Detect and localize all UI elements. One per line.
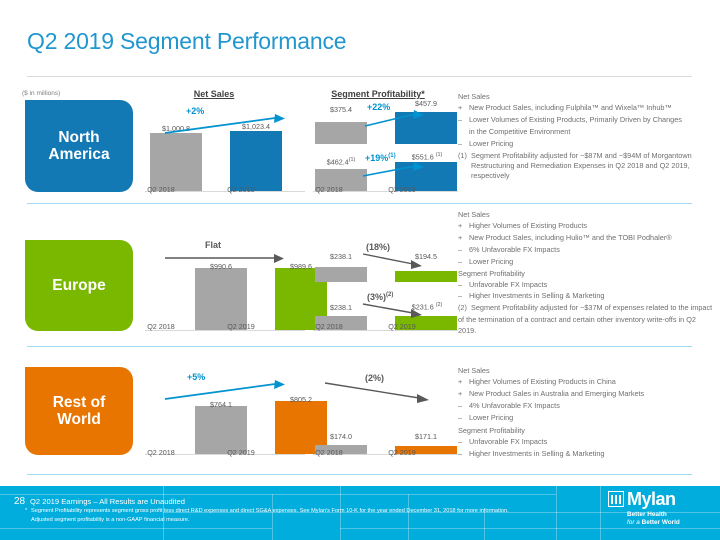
segment-label-line2: America bbox=[48, 146, 109, 163]
bullet-heading: Net Sales bbox=[458, 92, 716, 102]
axis-tick-prior: Q2 2018 bbox=[288, 185, 370, 194]
bullet-item: – Unfavorable FX Impacts bbox=[458, 280, 716, 290]
bar-value-current: $551.6 (1) bbox=[392, 152, 462, 161]
mylan-logo: Mylan Better Health for a Better World bbox=[608, 490, 708, 536]
bullet-marker: + bbox=[458, 377, 469, 387]
axis-tick-prior: Q2 2018 bbox=[120, 185, 202, 194]
bullet-item: – 4% Unfavorable FX Impacts bbox=[458, 401, 716, 411]
axis-tick-current: Q2 2019 bbox=[200, 448, 282, 457]
bullet-item: – Lower Volumes of Existing Products, Pr… bbox=[458, 115, 716, 125]
logo-tagline-line1: Better Health bbox=[627, 511, 708, 519]
segment-label-line2: World bbox=[57, 411, 101, 428]
logo-name: Mylan bbox=[627, 490, 676, 508]
section-divider-2 bbox=[27, 346, 692, 347]
footnote-line-2: Adjusted segment profitability is a non-… bbox=[31, 516, 576, 525]
units-note: ($ in millions) bbox=[22, 90, 60, 97]
chart-na-profitability-1: $375.4 $457.9 +22% bbox=[313, 100, 458, 145]
bullet-marker: + bbox=[458, 103, 469, 113]
bullet-text: Lower Pricing bbox=[469, 413, 716, 423]
bullet-text: Lower Pricing bbox=[469, 257, 716, 267]
axis-tick-current: Q2 2019 bbox=[361, 322, 443, 331]
bullets-north-america: Net Sales + New Product Sales, including… bbox=[458, 92, 716, 183]
bar-value-current: $457.9 bbox=[392, 99, 460, 108]
bar-value-prior: $174.0 bbox=[307, 432, 375, 441]
growth-arrow-icon bbox=[163, 380, 293, 402]
segment-label-line1: North bbox=[58, 129, 99, 146]
bullet-item: – Lower Pricing bbox=[458, 413, 716, 423]
bullet-item: – Unfavorable FX Impacts bbox=[458, 437, 716, 447]
bullet-heading: Net Sales bbox=[458, 366, 716, 376]
bullet-marker: – bbox=[458, 245, 469, 255]
bullet-text: Lower Volumes of Existing Products, Prim… bbox=[469, 115, 716, 125]
footnote-item: (2) Segment Profitability adjusted for ~… bbox=[458, 303, 716, 313]
bullet-text: Lower Pricing bbox=[469, 139, 716, 149]
growth-arrow-icon bbox=[361, 161, 433, 181]
segment-label-line1: Europe bbox=[52, 277, 105, 294]
segment-label-line1: Rest of bbox=[53, 394, 106, 411]
bullet-marker: – bbox=[458, 280, 469, 290]
footnote-marker: (1) bbox=[458, 151, 471, 182]
slide-footnote: * Segment Profitability represents segme… bbox=[31, 507, 576, 524]
axis-tick-prior: Q2 2018 bbox=[120, 448, 202, 457]
bar-prior bbox=[315, 267, 367, 282]
chart-na-net-sales: $1,000.8 $1,023.4 +2% bbox=[145, 100, 305, 192]
chart-eu-net-sales: $990.6 $989.6 Flat bbox=[145, 240, 305, 331]
bullet-item: + Higher Volumes of Existing Products bbox=[458, 221, 716, 231]
bar-current bbox=[230, 131, 282, 191]
bullet-marker: – bbox=[458, 115, 469, 125]
bullet-continuation: in the Competitive Environment bbox=[458, 127, 716, 137]
bullet-text: 4% Unfavorable FX Impacts bbox=[469, 401, 716, 411]
bullet-item: + New Product Sales in Australia and Eme… bbox=[458, 389, 716, 399]
bullet-item: – Lower Pricing bbox=[458, 257, 716, 267]
bullet-text: New Product Sales, including Hulio™ and … bbox=[469, 233, 716, 243]
bullet-marker: – bbox=[458, 257, 469, 267]
footnote-marker: * bbox=[25, 507, 27, 516]
chart-rw-profitability: $174.0 $171.1 (2%) bbox=[313, 367, 458, 455]
growth-arrow-icon bbox=[163, 114, 293, 136]
axis-tick-current: Q2 2019 bbox=[200, 322, 282, 331]
footnote-item: (1) Segment Profitability adjusted for ~… bbox=[458, 151, 716, 182]
bullet-marker: + bbox=[458, 233, 469, 243]
footer-title: Q2 2019 Earnings – All Results are Unaud… bbox=[30, 497, 185, 506]
footnote-text: Segment Profitability adjusted for ~$87M… bbox=[471, 151, 716, 182]
slide-root: Q2 2019 Segment Performance ($ in millio… bbox=[0, 0, 720, 540]
axis-tick-current: Q2 2019 bbox=[361, 185, 443, 194]
bullet-item: + New Product Sales, including Hulio™ an… bbox=[458, 233, 716, 243]
footnote-marker: (2) bbox=[458, 303, 471, 313]
bullet-marker: + bbox=[458, 221, 469, 231]
axis-tick-current: Q2 2019 bbox=[200, 185, 282, 194]
column-header-net-sales: Net Sales bbox=[158, 89, 270, 99]
bullet-heading: Net Sales bbox=[458, 210, 716, 220]
axis-tick-prior: Q2 2018 bbox=[288, 448, 370, 457]
page-title: Q2 2019 Segment Performance bbox=[27, 28, 346, 55]
bullet-text: Unfavorable FX Impacts bbox=[469, 437, 716, 447]
decline-arrow-icon bbox=[361, 301, 433, 323]
axis-tick-current: Q2 2019 bbox=[361, 448, 443, 457]
logo-row: Mylan bbox=[608, 490, 708, 508]
chart-eu-profitability-1: $238.1 $194.5 (18%) bbox=[313, 243, 458, 283]
bar-prior bbox=[315, 122, 367, 144]
mylan-mark-icon bbox=[608, 491, 624, 507]
growth-arrow-icon bbox=[363, 110, 433, 130]
footnote-continuation: of the termination of a contract and cer… bbox=[458, 315, 716, 336]
bullet-marker: – bbox=[458, 291, 469, 301]
bullets-rest-of-world: Net Sales + Higher Volumes of Existing P… bbox=[458, 366, 716, 461]
bullet-heading: Segment Profitability bbox=[458, 426, 716, 436]
section-divider-1 bbox=[27, 203, 692, 204]
bullet-marker: – bbox=[458, 139, 469, 149]
segment-block-europe: Europe bbox=[25, 240, 133, 331]
bar-value-current: $171.1 bbox=[392, 432, 460, 441]
bullets-europe: Net Sales + Higher Volumes of Existing P… bbox=[458, 210, 716, 338]
bullet-item: + Higher Volumes of Existing Products in… bbox=[458, 377, 716, 387]
bullet-text: Higher Investments in Selling & Marketin… bbox=[469, 449, 716, 459]
bullet-text: Higher Volumes of Existing Products in C… bbox=[469, 377, 716, 387]
column-header-segment-profitability: Segment Profitability* bbox=[313, 89, 443, 99]
bullet-marker: – bbox=[458, 413, 469, 423]
axis-tick-prior: Q2 2018 bbox=[288, 322, 370, 331]
bullet-marker: – bbox=[458, 437, 469, 447]
bullet-text: Unfavorable FX Impacts bbox=[469, 280, 716, 290]
section-divider-3 bbox=[27, 474, 692, 475]
page-number: 28 bbox=[14, 496, 25, 507]
bullet-marker: – bbox=[458, 449, 469, 459]
bar-prior bbox=[150, 133, 202, 191]
bullet-item: + New Product Sales, including Fulphila™… bbox=[458, 103, 716, 113]
bullet-text: New Product Sales, including Fulphila™ a… bbox=[469, 103, 716, 113]
bullet-heading: Segment Profitability bbox=[458, 269, 716, 279]
chart-rw-net-sales: $764.1 $805.2 +5% bbox=[145, 367, 305, 455]
decline-arrow-icon bbox=[323, 380, 443, 408]
bullet-item: – Lower Pricing bbox=[458, 139, 716, 149]
bar-prior bbox=[195, 406, 247, 454]
bullet-item: – 6% Unfavorable FX Impacts bbox=[458, 245, 716, 255]
bullet-item: – Higher Investments in Selling & Market… bbox=[458, 449, 716, 459]
footnote-text: Segment Profitability adjusted for ~$37M… bbox=[471, 303, 716, 313]
bullet-text: Higher Investments in Selling & Marketin… bbox=[469, 291, 716, 301]
bullet-item: – Higher Investments in Selling & Market… bbox=[458, 291, 716, 301]
bullet-marker: + bbox=[458, 389, 469, 399]
decline-arrow-icon bbox=[361, 251, 433, 273]
bar-prior bbox=[195, 268, 247, 330]
segment-block-north-america: North America bbox=[25, 100, 133, 192]
footnote-line-1: Segment Profitability represents segment… bbox=[31, 507, 576, 516]
bullet-text: 6% Unfavorable FX Impacts bbox=[469, 245, 716, 255]
bullet-text: New Product Sales in Australia and Emerg… bbox=[469, 389, 716, 399]
bullet-marker: – bbox=[458, 401, 469, 411]
segment-block-rest-of-world: Rest of World bbox=[25, 367, 133, 455]
change-label: Flat bbox=[205, 240, 221, 250]
logo-tagline-line2: for a Better World bbox=[627, 519, 708, 527]
flat-arrow-icon bbox=[163, 252, 293, 266]
title-divider bbox=[27, 76, 692, 77]
bullet-text: Higher Volumes of Existing Products bbox=[469, 221, 716, 231]
axis-tick-prior: Q2 2018 bbox=[120, 322, 202, 331]
logo-tagline: Better Health for a Better World bbox=[627, 511, 708, 527]
